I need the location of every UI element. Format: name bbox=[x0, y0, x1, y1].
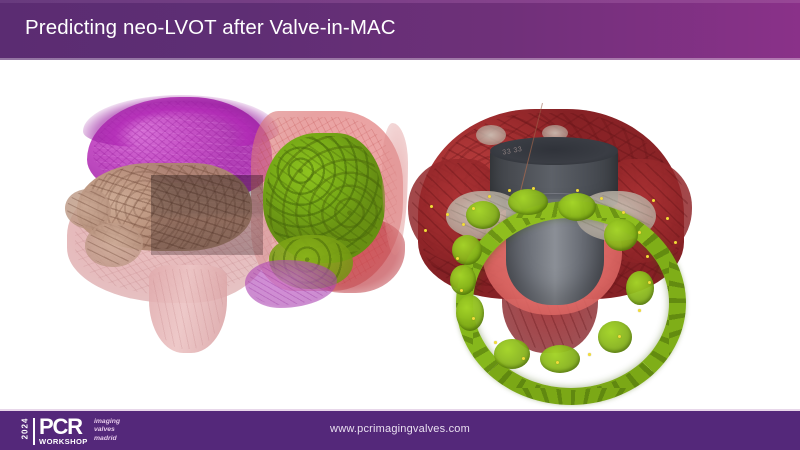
footer-url[interactable]: www.pcrimagingvalves.com bbox=[0, 423, 800, 435]
calcification-nodule bbox=[494, 339, 530, 369]
landmark-dot bbox=[472, 207, 475, 210]
calcification-nodule bbox=[456, 295, 484, 331]
calcification-nodule bbox=[558, 193, 596, 221]
pcr-descriptor-line-3: madrid bbox=[94, 435, 120, 443]
page-title: Predicting neo-LVOT after Valve-in-MAC bbox=[25, 16, 396, 40]
landmark-dot bbox=[646, 255, 649, 258]
landmark-dot bbox=[666, 217, 669, 220]
landmark-dot bbox=[600, 197, 603, 200]
landmark-dot bbox=[494, 341, 497, 344]
landmark-dot bbox=[588, 353, 591, 356]
pcr-logo-subtitle: WORKSHOP bbox=[39, 437, 88, 446]
landmark-dot bbox=[522, 357, 525, 360]
calcification-ring-texture bbox=[456, 201, 686, 405]
landmark-dot bbox=[472, 317, 475, 320]
left-3d-render bbox=[55, 95, 400, 360]
landmark-dot bbox=[508, 189, 511, 192]
landmark-dot bbox=[424, 229, 427, 232]
landmark-dot bbox=[576, 189, 579, 192]
left-atrium-mesh-edge bbox=[83, 95, 279, 147]
landmark-dot bbox=[648, 281, 651, 284]
landmark-dot bbox=[462, 223, 465, 226]
landmark-dot bbox=[456, 257, 459, 260]
calcification-nodule bbox=[604, 219, 638, 251]
landmark-dot bbox=[674, 241, 677, 244]
landmark-dot bbox=[488, 195, 491, 198]
landmark-dot bbox=[430, 205, 433, 208]
landmark-dot bbox=[556, 361, 559, 364]
landmark-dot bbox=[446, 213, 449, 216]
outflow-tract-stalk bbox=[149, 265, 227, 353]
landmark-dot bbox=[618, 335, 621, 338]
ct-slice-plane-overlay bbox=[151, 175, 263, 255]
landmark-dot bbox=[652, 199, 655, 202]
slide-header: Predicting neo-LVOT after Valve-in-MAC bbox=[0, 0, 800, 60]
presentation-slide: Predicting neo-LVOT after Valve-in-MAC bbox=[0, 0, 800, 450]
landmark-dot bbox=[638, 231, 641, 234]
landmark-dot bbox=[532, 187, 535, 190]
slide-body: 33 33 bbox=[0, 60, 800, 411]
calcification-nodule bbox=[598, 321, 632, 353]
calcification-nodule bbox=[508, 189, 548, 215]
landmark-dot bbox=[460, 289, 463, 292]
header-top-accent bbox=[0, 0, 800, 3]
calcification-nodule bbox=[540, 345, 580, 373]
calcification-nodule bbox=[452, 235, 482, 265]
calcification-nodule bbox=[450, 265, 476, 295]
calcification-nodule bbox=[626, 271, 654, 305]
landmark-dot bbox=[622, 211, 625, 214]
atrium-lower-lobe bbox=[245, 260, 337, 308]
slide-footer: 2024 PCR WORKSHOP imaging valves madrid … bbox=[0, 411, 800, 450]
calcification-nodule bbox=[466, 201, 500, 229]
landmark-dot bbox=[638, 309, 641, 312]
adjacent-tissue-fragment bbox=[382, 123, 408, 255]
right-3d-render: 33 33 bbox=[390, 95, 720, 360]
